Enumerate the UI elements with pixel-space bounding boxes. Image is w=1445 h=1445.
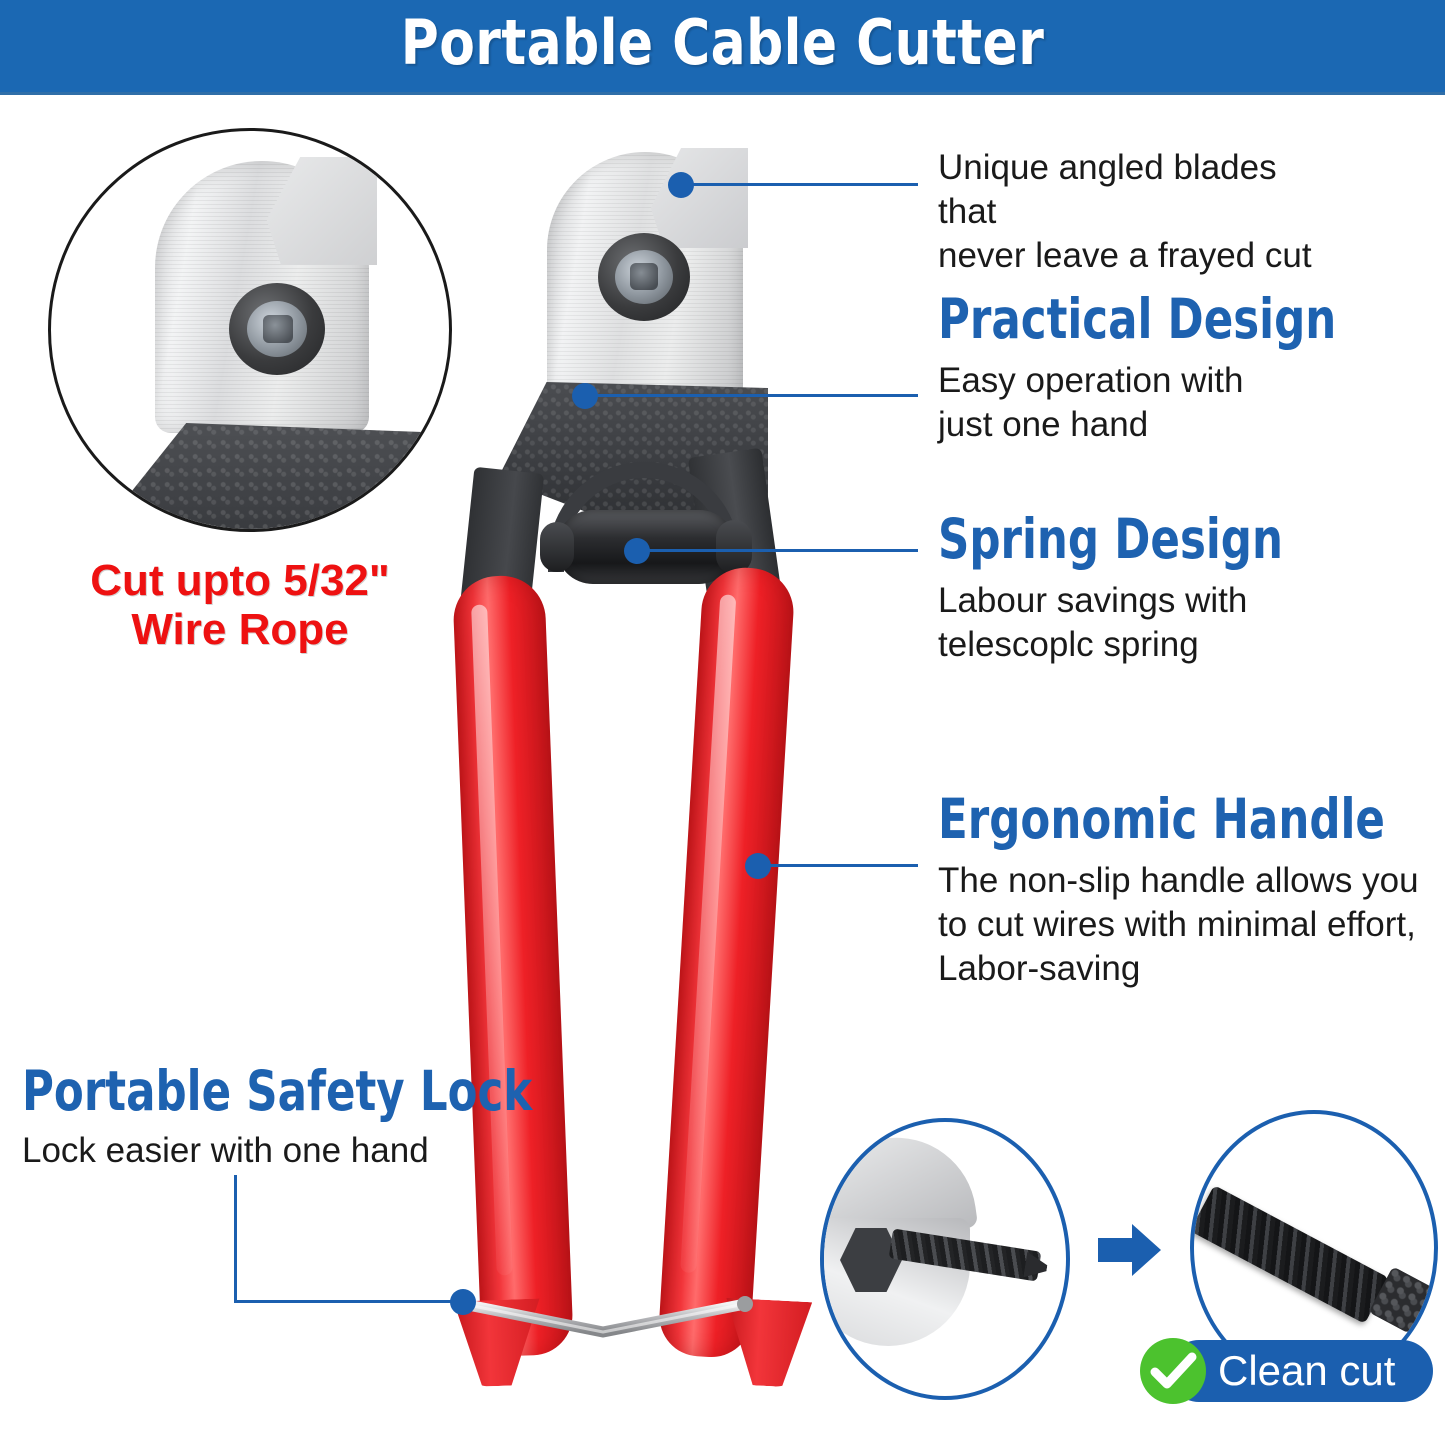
practical-design-heading: Practical Design (938, 292, 1308, 347)
ergonomic-handle-body-line-3: Labor-saving (938, 947, 1438, 991)
blades-body-line-2: never leave a frayed cut (938, 234, 1338, 278)
inset-rope-body (1190, 1185, 1389, 1324)
callout-line-spring-design (642, 549, 918, 552)
blades-body-line-1: Unique angled blades that (938, 146, 1338, 234)
process-arrow-icon (1098, 1222, 1162, 1278)
callout-line-safety-lock-vertical (234, 1175, 237, 1303)
safety-lock-wire (455, 1280, 755, 1342)
spring-design-heading: Spring Design (938, 512, 1308, 567)
callout-text-portable-safety-lock: Portable Safety Lock Lock easier with on… (22, 1064, 482, 1173)
callout-dot-portable-safety-lock[interactable] (450, 1289, 476, 1315)
spring-design-body-line-1: Labour savings with (938, 579, 1358, 623)
clean-cut-label: Clean cut (1218, 1340, 1395, 1402)
handle-grip-left (452, 574, 574, 1357)
inset-rope-group (1202, 1148, 1432, 1338)
inset-blade-cutting-cable (820, 1118, 1070, 1400)
check-icon (1140, 1338, 1206, 1404)
handle-grip-right (657, 565, 796, 1359)
callout-line-practical-design (590, 394, 918, 397)
pivot-bolt-inner (630, 263, 658, 290)
ergonomic-handle-heading: Ergonomic Handle (938, 792, 1378, 847)
callout-text-blades: Unique angled blades that never leave a … (938, 146, 1338, 278)
infographic-canvas: Portable Cable Cutter Cut upto 5/32" Wir… (0, 0, 1445, 1445)
portable-safety-lock-body-line-1: Lock easier with one hand (22, 1129, 482, 1173)
callout-text-ergonomic-handle: Ergonomic Handle The non-slip handle all… (938, 792, 1438, 991)
callout-text-practical-design: Practical Design Easy operation with jus… (938, 292, 1358, 447)
callout-line-ergonomic-handle (763, 864, 918, 867)
callout-line-safety-lock-horizontal (234, 1300, 466, 1303)
portable-safety-lock-heading: Portable Safety Lock (22, 1064, 427, 1119)
ergonomic-handle-body-line-2: to cut wires with minimal effort, (938, 903, 1438, 947)
callout-text-spring-design: Spring Design Labour savings with telesc… (938, 512, 1358, 667)
ergonomic-handle-body-line-1: The non-slip handle allows you (938, 859, 1438, 903)
spring-design-body-line-2: telescoplc spring (938, 623, 1358, 667)
callout-line-blades (686, 183, 918, 186)
practical-design-body-line-1: Easy operation with (938, 359, 1358, 403)
inset-blade-group (820, 1132, 1032, 1372)
practical-design-body-line-2: just one hand (938, 403, 1358, 447)
